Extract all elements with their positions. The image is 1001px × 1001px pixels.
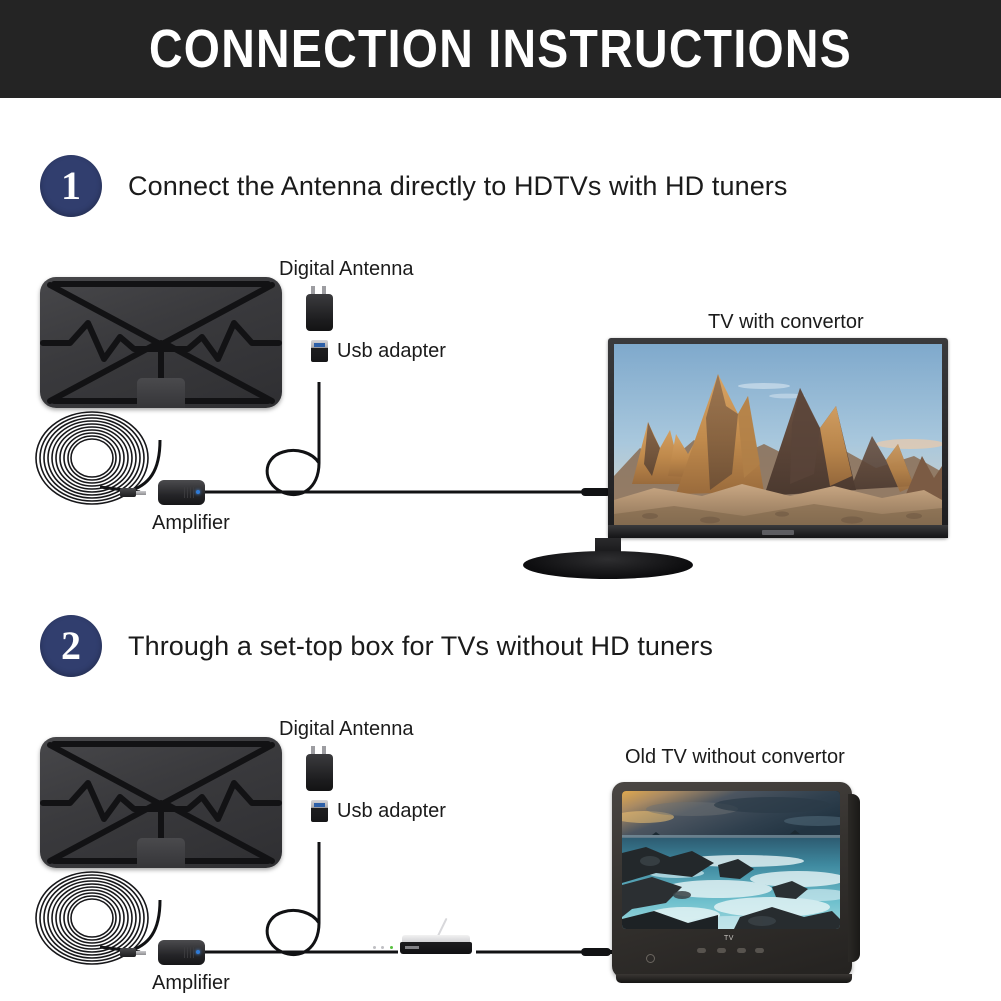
coax-plug-2 xyxy=(120,948,146,957)
usb-a-connector-2 xyxy=(311,800,328,822)
old-tv-foot xyxy=(616,974,852,983)
old-tv-panel-label: TV xyxy=(724,935,734,942)
old-tv-control-panel: TV xyxy=(620,933,842,971)
antenna-base-tab-2 xyxy=(137,838,185,868)
label-usb-adapter-2: Usb adapter xyxy=(337,800,446,823)
antenna-base-tab xyxy=(137,378,185,408)
label-old-tv-without-convertor: Old TV without convertor xyxy=(625,746,845,769)
old-tv-power-button[interactable] xyxy=(646,954,655,963)
usb-wall-adapter-2 xyxy=(306,754,333,791)
label-digital-antenna-2: Digital Antenna xyxy=(279,718,414,741)
old-tv-buttons[interactable] xyxy=(695,946,767,955)
digital-antenna-panel-2 xyxy=(40,737,282,868)
amplifier-box-2 xyxy=(158,940,205,965)
plug-prongs-icon-2 xyxy=(311,746,329,754)
label-amplifier-2: Amplifier xyxy=(152,972,230,995)
set-top-box-leds xyxy=(373,946,395,950)
set-top-box-logo xyxy=(405,946,419,949)
old-tv-screen xyxy=(622,791,840,929)
old-tv-side-panel xyxy=(848,794,860,962)
